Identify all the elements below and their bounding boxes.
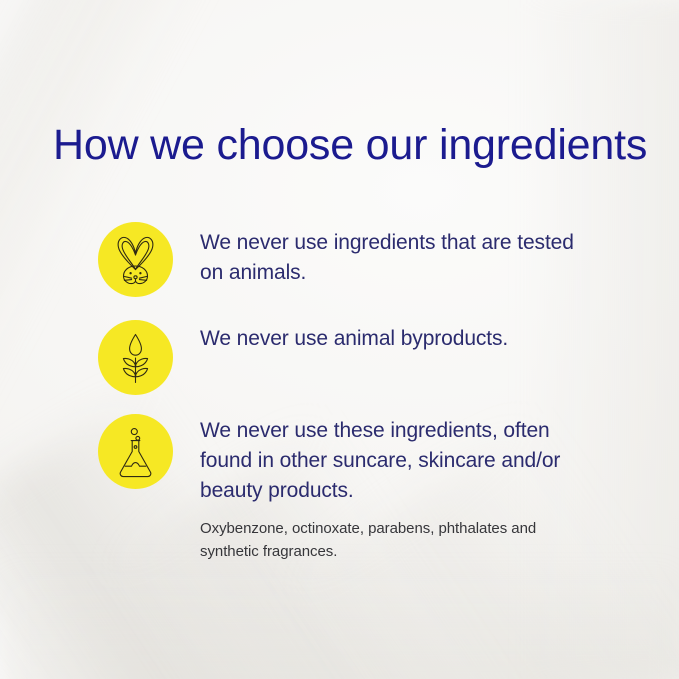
list-item-fine-print: Oxybenzone, octinoxate, parabens, phthal… [200,518,565,563]
list-item-text: We never use animal byproducts. [200,324,600,354]
edge-shading-bottom [0,559,679,679]
page-title: How we choose our ingredients [53,122,647,169]
list-item-text: We never use ingredients that are tested… [200,228,600,288]
erlenmeyer-flask-icon [98,414,173,489]
list-item-text: We never use these ingredients, often fo… [200,416,600,505]
rabbit-heart-ears-icon [98,222,173,297]
plant-sprig-icon [98,320,173,395]
infographic-canvas: How we choose our ingredients [0,0,679,679]
